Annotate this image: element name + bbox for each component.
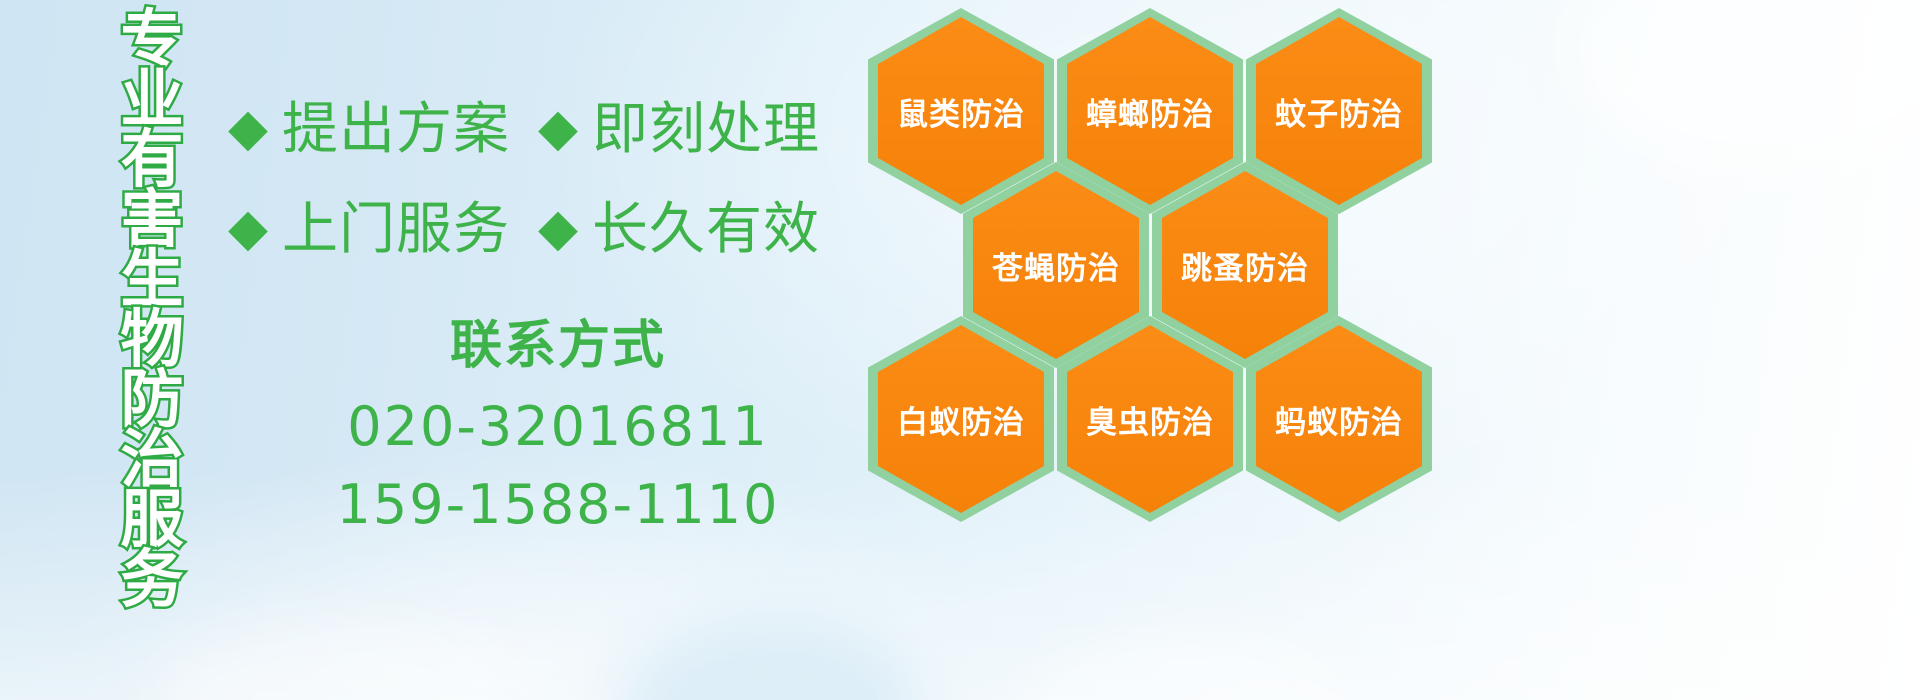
diamond-bullet-icon: ◆ — [538, 102, 578, 154]
vertical-headline-char: 专 — [121, 10, 184, 70]
background-blob-center — [620, 620, 920, 700]
service-label: 白蚁防治 — [868, 316, 1054, 522]
service-label: 蚂蚁防治 — [1246, 316, 1432, 522]
feature-row: ◆ 提出方案 ◆ 即刻处理 — [228, 84, 820, 176]
feature-label: 提出方案 — [282, 100, 510, 160]
vertical-headline-char: 业 — [121, 70, 184, 130]
vertical-headline-char: 生 — [121, 250, 184, 310]
service-label: 臭虫防治 — [1057, 316, 1243, 522]
feature-label: 长久有效 — [592, 200, 820, 260]
service-honeycomb: 鼠类防治 蟑螂防治 蚊子防治 苍蝇防治 跳蚤防治 白蚁防治 — [860, 0, 1460, 560]
vertical-headline-char: 有 — [121, 130, 184, 190]
vertical-headline-char: 物 — [121, 310, 184, 370]
diamond-bullet-icon: ◆ — [228, 202, 268, 254]
background-glow-top-right — [1560, 0, 1920, 180]
vertical-headline: 专 业 有 害 生 物 防 治 服 务 — [104, 10, 200, 558]
vertical-headline-char: 务 — [121, 550, 184, 610]
background-blob-right — [1020, 635, 1360, 700]
contact-phone-landline[interactable]: 020-32016811 — [258, 388, 858, 466]
vertical-headline-char: 服 — [121, 490, 184, 550]
vertical-headline-char: 防 — [121, 370, 184, 430]
vertical-headline-char: 害 — [121, 190, 184, 250]
feature-label: 上门服务 — [282, 200, 510, 260]
background-blob-left — [150, 620, 530, 700]
contact-title: 联系方式 — [258, 310, 858, 382]
contact-block: 联系方式 020-32016811 159-1588-1110 — [258, 310, 858, 544]
service-hex-ant[interactable]: 蚂蚁防治 — [1246, 316, 1432, 522]
service-hex-termite[interactable]: 白蚁防治 — [868, 316, 1054, 522]
feature-row: ◆ 上门服务 ◆ 长久有效 — [228, 184, 820, 276]
pest-control-banner: 专 业 有 害 生 物 防 治 服 务 ◆ 提出方案 ◆ 即刻处理 ◆ 上门服务… — [0, 0, 1920, 700]
vertical-headline-char: 治 — [121, 430, 184, 490]
feature-label: 即刻处理 — [592, 100, 820, 160]
contact-phone-mobile[interactable]: 159-1588-1110 — [258, 466, 858, 544]
diamond-bullet-icon: ◆ — [228, 102, 268, 154]
feature-list: ◆ 提出方案 ◆ 即刻处理 ◆ 上门服务 ◆ 长久有效 — [228, 84, 820, 276]
diamond-bullet-icon: ◆ — [538, 202, 578, 254]
service-hex-bedbug[interactable]: 臭虫防治 — [1057, 316, 1243, 522]
